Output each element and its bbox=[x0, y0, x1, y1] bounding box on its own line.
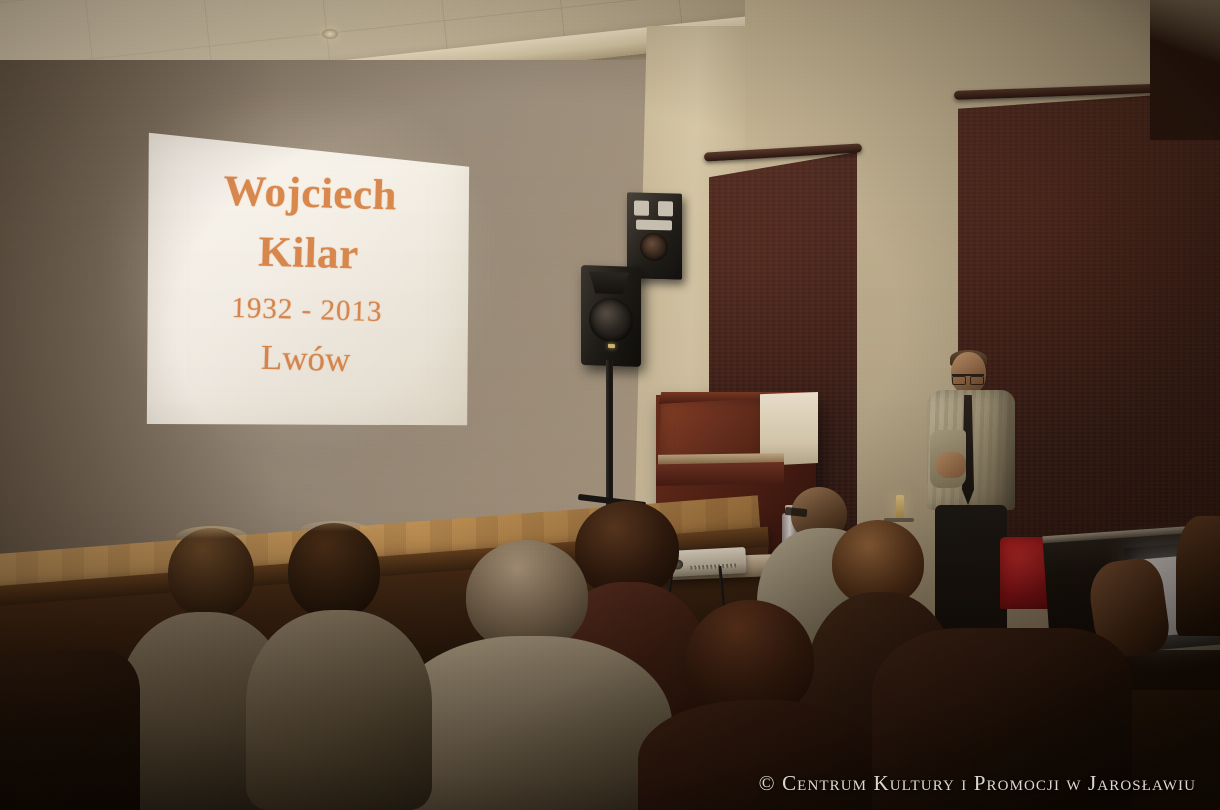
copyright-watermark: © Centrum Kultury i Promocji w Jarosławi… bbox=[759, 771, 1196, 796]
speaker-cone-icon bbox=[640, 233, 668, 262]
projection-screen: Wojciech Kilar 1932 - 2013 Lwów bbox=[138, 120, 478, 440]
lecture-hall-photo: Wojciech Kilar 1932 - 2013 Lwów bbox=[0, 0, 1220, 810]
ceiling-downlight-icon bbox=[322, 29, 338, 39]
speaker-stand-pole bbox=[606, 360, 613, 510]
presenter-hands bbox=[936, 452, 966, 478]
pa-speaker bbox=[581, 265, 641, 367]
slide-name-line2: Kilar bbox=[138, 219, 480, 289]
screen-surface: Wojciech Kilar 1932 - 2013 Lwów bbox=[138, 120, 478, 440]
projector-vent bbox=[690, 563, 736, 569]
presenter-head bbox=[951, 352, 986, 394]
audience-member bbox=[1176, 516, 1220, 636]
slide-dates: 1932 - 2013 bbox=[136, 284, 477, 338]
presenter-trousers bbox=[935, 505, 1007, 635]
audience-member bbox=[0, 650, 140, 810]
slide-content: Wojciech Kilar 1932 - 2013 Lwów bbox=[135, 159, 481, 387]
speaker-power-led-icon bbox=[608, 344, 615, 348]
projector bbox=[667, 547, 746, 577]
wall-sconce-light-icon bbox=[896, 495, 904, 519]
glasses-icon bbox=[952, 374, 984, 383]
slide-name-line1: Wojciech bbox=[139, 159, 481, 229]
speaker-tweeter-icon bbox=[634, 200, 649, 215]
corner-shadow bbox=[1150, 0, 1220, 140]
piano-fallboard bbox=[656, 462, 784, 486]
speaker-tweeter-icon bbox=[658, 201, 673, 216]
speaker-horn-icon bbox=[636, 220, 672, 231]
speaker-horn-icon bbox=[589, 271, 629, 294]
slide-place: Lwów bbox=[135, 331, 476, 388]
speaker-woofer-icon bbox=[589, 297, 633, 343]
